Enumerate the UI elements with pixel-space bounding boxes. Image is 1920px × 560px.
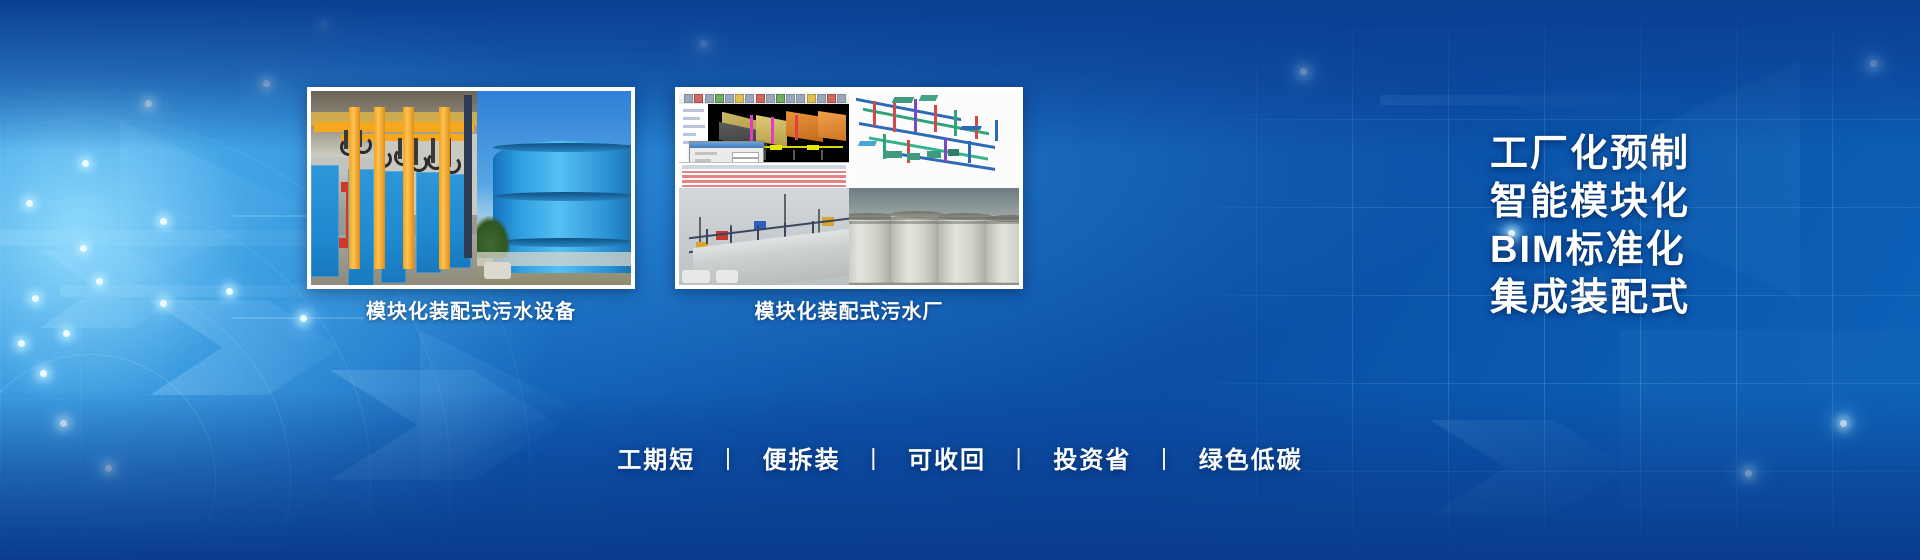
- tagline-separator: 丨: [1140, 447, 1190, 474]
- circular-tanks-photo: [849, 188, 1019, 285]
- glow-dot: [63, 330, 70, 337]
- product-panel-1[interactable]: 模块化装配式污水设备: [307, 87, 635, 289]
- tagline-item-4: 投资省: [1053, 447, 1131, 474]
- glow-dot: [26, 200, 33, 207]
- headline-line-3: BIM标准化: [1490, 226, 1920, 274]
- tagline-separator: 丨: [849, 447, 899, 474]
- wastewater-plant-photo: [679, 188, 849, 285]
- tagline-item-5: 绿色低碳: [1199, 447, 1303, 474]
- tagline-separator: 丨: [704, 447, 754, 474]
- tagline-item-2: 便拆装: [763, 447, 841, 474]
- glow-dot: [96, 278, 103, 285]
- product-panel-2-caption: 模块化装配式污水厂: [675, 295, 1023, 324]
- 3d-pipe-network-model: [849, 91, 1019, 188]
- glow-dot: [300, 315, 307, 322]
- headline-line-1: 工厂化预制: [1490, 130, 1920, 178]
- tagline: 工期短 丨 便拆装 丨 可收回 丨 投资省 丨 绿色低碳: [0, 440, 1920, 475]
- glow-dot: [226, 288, 233, 295]
- product-panel-1-images: [311, 91, 631, 285]
- headline-line-4: 集成装配式: [1490, 274, 1920, 322]
- tagline-item-1: 工期短: [617, 447, 695, 474]
- product-panel-2[interactable]: 模块化装配式污水厂: [675, 87, 1023, 289]
- glow-dot: [32, 295, 39, 302]
- tagline-separator: 丨: [995, 447, 1045, 474]
- factory-blue-panels-photo: [311, 91, 477, 285]
- glow-dot: [160, 300, 167, 307]
- bim-cad-software-screenshot: [679, 91, 849, 188]
- promo-banner: 模块化装配式污水设备: [0, 0, 1920, 560]
- headline-line-2: 智能模块化: [1490, 178, 1920, 226]
- product-panel-2-images: [679, 91, 1019, 285]
- background-bottom-fade: [0, 390, 1920, 560]
- glow-dot: [40, 370, 47, 377]
- glow-dot: [80, 245, 87, 252]
- glow-dot: [82, 160, 89, 167]
- glow-dot: [18, 340, 25, 347]
- product-panel-1-caption: 模块化装配式污水设备: [307, 295, 635, 324]
- blue-cylindrical-tank-photo: [477, 91, 631, 285]
- glow-dot: [160, 218, 167, 225]
- tagline-item-3: 可收回: [908, 447, 986, 474]
- headline-block: 工厂化预制 智能模块化 BIM标准化 集成装配式: [1490, 130, 1920, 322]
